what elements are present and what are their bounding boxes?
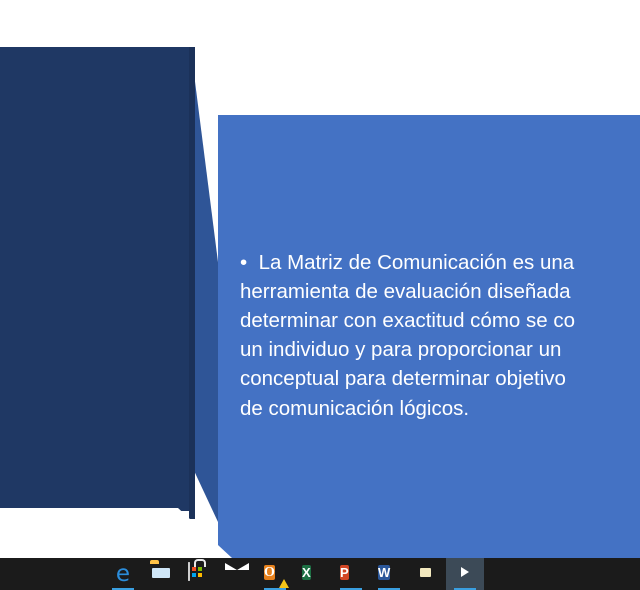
excel-icon: X — [302, 563, 324, 585]
taskbar-item-outlook[interactable]: O — [256, 558, 294, 590]
warning-badge-icon — [279, 579, 289, 588]
slide-canvas[interactable]: de nicación. • La Matriz de Comunicación… — [0, 0, 640, 558]
taskbar-item-microsoft-store[interactable] — [180, 558, 218, 590]
taskbar-item-word[interactable]: W — [370, 558, 408, 590]
word-icon: W — [378, 563, 400, 585]
outlook-icon: O — [264, 563, 286, 585]
media-player-icon — [454, 563, 476, 585]
taskbar-item-file-explorer[interactable] — [142, 558, 180, 590]
taskbar-item-media-player[interactable] — [446, 558, 484, 590]
taskbar-start-area[interactable] — [0, 558, 104, 590]
powerpoint-icon: P — [340, 563, 362, 585]
taskbar-item-powerpoint[interactable]: P — [332, 558, 370, 590]
title-panel-bevel — [192, 58, 218, 522]
taskbar-item-pdf-reader[interactable] — [408, 558, 446, 590]
taskbar-item-mail[interactable] — [218, 558, 256, 590]
pdf-reader-icon — [416, 563, 438, 585]
slide-body-text: • La Matriz de Comunicación es una herra… — [240, 248, 640, 423]
slide-background-wedge — [0, 508, 240, 558]
title-panel-edge — [189, 47, 195, 519]
windows-taskbar[interactable]: e O X P — [0, 558, 640, 590]
mail-icon — [226, 563, 248, 585]
file-explorer-icon — [150, 563, 172, 585]
microsoft-store-icon — [188, 563, 210, 585]
taskbar-item-edge[interactable]: e — [104, 558, 142, 590]
edge-icon: e — [112, 563, 134, 585]
title-panel — [0, 47, 192, 511]
taskbar-item-excel[interactable]: X — [294, 558, 332, 590]
